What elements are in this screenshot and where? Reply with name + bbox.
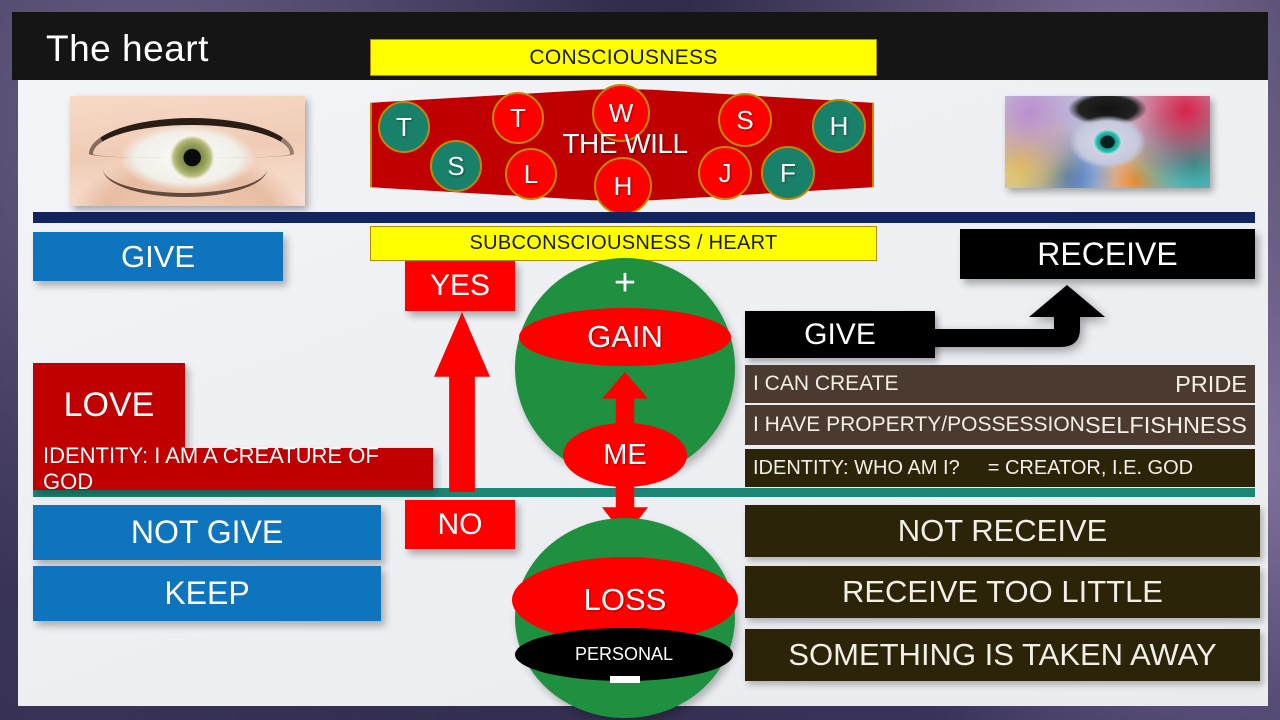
- give-row-selfishness: I HAVE PROPERTY/POSSESSION SELFISHNESS: [745, 405, 1255, 445]
- give-row-identity: IDENTITY: WHO AM I? = CREATOR, I.E. GOD: [745, 449, 1255, 487]
- polygonal-eye-image: [1005, 96, 1210, 188]
- give-row-1-right: PRIDE: [1175, 371, 1247, 398]
- will-node-s2: S: [718, 93, 772, 147]
- give-row-2-left: I HAVE PROPERTY/POSSESSION: [753, 413, 1085, 437]
- something-taken-away-bar[interactable]: SOMETHING IS TAKEN AWAY: [745, 629, 1260, 681]
- consciousness-banner: CONSCIOUSNESS: [370, 39, 877, 76]
- receive-bar[interactable]: RECEIVE: [960, 229, 1255, 279]
- give-row-2-right: SELFISHNESS: [1085, 412, 1247, 439]
- give-to-receive-arrow-icon: [915, 285, 1115, 360]
- human-eye-image: [70, 96, 305, 206]
- will-node-j: J: [698, 146, 752, 200]
- will-node-h1: H: [594, 157, 652, 215]
- give-row-1-left: I CAN CREATE: [753, 372, 898, 396]
- receive-too-little-bar[interactable]: RECEIVE TOO LITTLE: [745, 566, 1260, 618]
- give-row-3-right: = CREATOR, I.E. GOD: [988, 457, 1193, 480]
- gain-ellipse: GAIN: [519, 308, 731, 366]
- minus-sign-icon: [610, 676, 640, 683]
- not-give-bar[interactable]: NOT GIVE: [33, 505, 381, 560]
- plus-sign-icon: +: [605, 264, 645, 302]
- give-label-right: GIVE: [745, 311, 935, 358]
- will-node-t2: T: [492, 92, 544, 144]
- love-box: LOVE: [33, 363, 185, 448]
- will-node-s1: S: [430, 140, 482, 192]
- give-bar-left[interactable]: GIVE: [33, 232, 283, 281]
- the-will-label: THE WILL: [555, 128, 695, 160]
- no-label: NO: [405, 500, 515, 549]
- give-row-3-left: IDENTITY: WHO AM I?: [753, 457, 960, 480]
- navy-divider: [33, 212, 1255, 223]
- identity-creature-of-god: IDENTITY: I AM A CREATURE OF GOD: [33, 448, 433, 490]
- slide-root: The heart CONSCIOUSNESS SUBCONSCIOUSNESS…: [0, 0, 1280, 720]
- subconsciousness-banner: SUBCONSCIOUSNESS / HEART: [370, 226, 877, 261]
- keep-bar[interactable]: KEEP: [33, 566, 381, 621]
- will-node-h2: H: [812, 99, 866, 153]
- yes-label: YES: [405, 261, 515, 311]
- will-node-t1: T: [378, 101, 430, 153]
- will-node-f: F: [761, 146, 815, 200]
- will-node-l: L: [505, 148, 557, 200]
- not-receive-bar[interactable]: NOT RECEIVE: [745, 505, 1260, 557]
- give-row-pride: I CAN CREATE PRIDE: [745, 365, 1255, 403]
- personal-ellipse: PERSONAL: [515, 628, 733, 681]
- page-title: The heart: [46, 28, 209, 70]
